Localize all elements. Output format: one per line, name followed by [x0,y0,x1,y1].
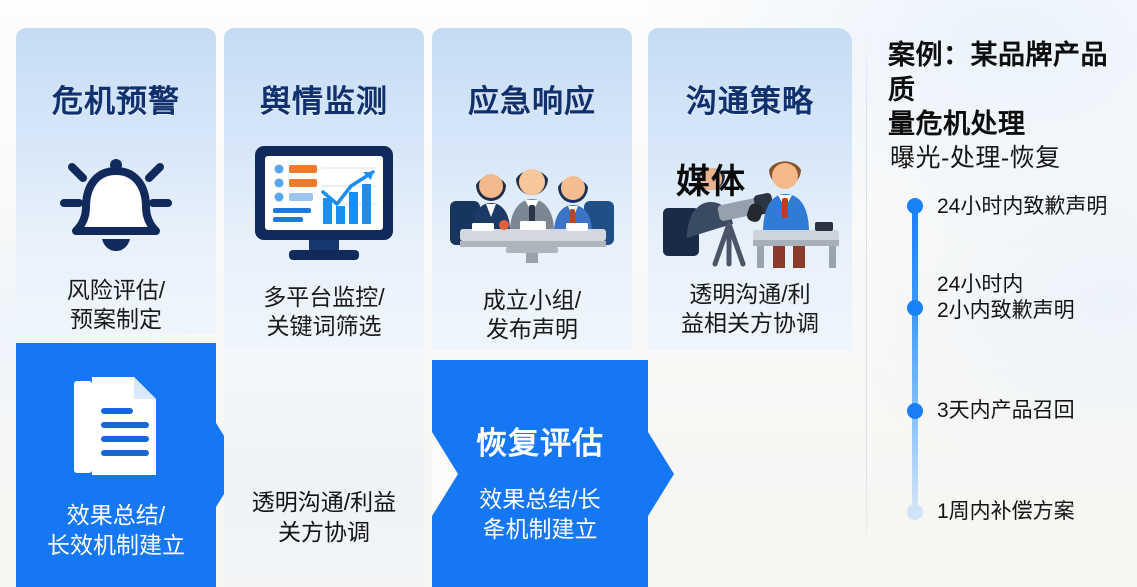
flow-card-caption: 风险评估/ 预案制定 [16,276,216,334]
flow-bottom-panel-caption: 效果总结/长 夅机制建立 [432,485,648,545]
flow-bottom-panel-title: 恢复评估 [432,418,648,463]
panel-divider [866,28,867,558]
flow-card-crisis-warning[interactable]: 危机预警 风险评估/ 预案制定 [16,28,216,334]
timeline-dot[interactable] [907,504,923,520]
flow-card-title: 应急响应 [432,76,632,121]
flow-card-title: 沟通策略 [648,76,852,121]
bell-alert-icon [16,148,216,258]
flow-card-title: 危机预警 [16,76,216,121]
timeline-item-label: 24小时内 2小内致歉声明 [937,272,1137,323]
flow-card-title: 舆情监测 [224,76,424,121]
flow-bottom-panel-recovery-assessment[interactable]: 恢复评估 效果总结/长 夅机制建立 [432,360,648,587]
case-panel-subtitle: 曝光-处理-恢复 [890,138,1061,174]
media-label: 媒体 [676,154,746,203]
flow-bottom-gap-caption: 透明沟通/利益 关方协调 [224,488,424,548]
arrow-right-icon [648,432,674,516]
timeline-dot[interactable] [907,300,923,316]
flow-bottom-gap-column [224,348,424,587]
monitor-dashboard-icon [224,140,424,270]
flow-card-caption: 透明沟通/利 益相关方协调 [648,280,852,339]
document-report-icon [16,371,216,481]
flow-card-emergency-response[interactable]: 应急响应 [432,28,632,350]
flow-card-caption: 多平台监控/ 关键词筛选 [224,283,424,342]
timeline-track [912,205,918,520]
flow-card-caption: 成立小组/ 发布声明 [432,286,632,345]
timeline-item-label: 1周内补偿方案 [937,499,1137,525]
flow-card-communication-strategy[interactable]: 沟通策略 [648,28,852,350]
flow-bottom-panel-summary[interactable]: 效果总结/ 长效机制建立 [16,343,216,587]
timeline-item-label: 3天内产品召回 [937,398,1137,424]
team-meeting-icon [432,154,632,266]
timeline-dot[interactable] [907,403,923,419]
flow-card-opinion-monitoring[interactable]: 舆情监测 [224,28,424,348]
timeline-dot[interactable] [907,198,923,214]
flow-bottom-panel-caption: 效果总结/ 长效机制建立 [16,501,216,561]
flow-diagram-stage: 危机预警 风险评估/ 预案制定 [0,0,1137,587]
case-panel-title: 案例：某品牌产品质 量危机处理 [888,38,1133,142]
timeline-item-label: 24小时内致歉声明 [937,194,1137,220]
